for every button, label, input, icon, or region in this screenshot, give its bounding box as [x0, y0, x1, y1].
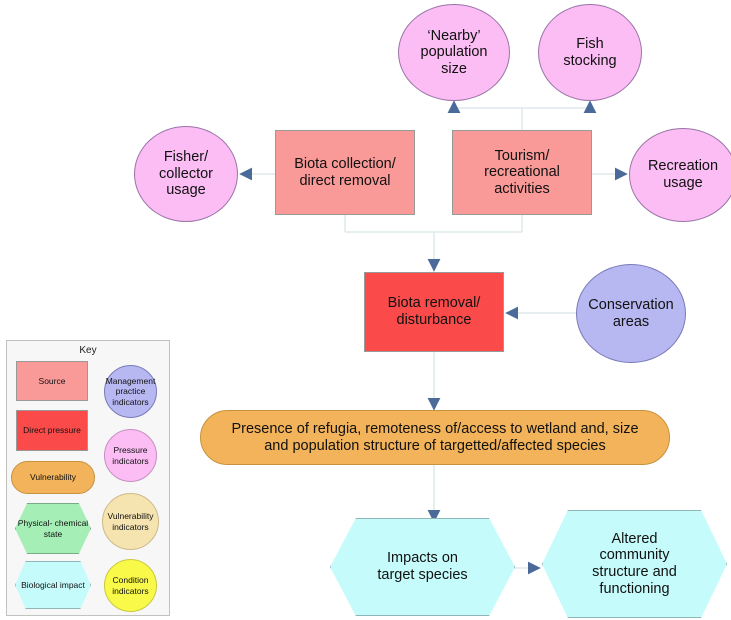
- node-line: usage: [159, 182, 213, 199]
- node-line: Recreation: [648, 158, 718, 175]
- key-item-physical-chemical-state: Physical- chemical state: [15, 503, 91, 554]
- key-item-label: indicators: [112, 522, 148, 532]
- node-line: Presence of refugia, remoteness of/acces…: [231, 421, 638, 438]
- key-item-label: Management: [106, 376, 156, 386]
- key-item-label: Pressure: [113, 445, 147, 455]
- node-line: Biota collection/: [294, 156, 396, 173]
- diagram-canvas: ‘Nearby’ population size Fish stocking F…: [0, 0, 731, 620]
- key-item-label: indicators: [112, 586, 148, 596]
- key-item-source: Source: [16, 361, 88, 401]
- node-conservation-areas[interactable]: Conservation areas: [576, 264, 686, 363]
- node-line: recreational: [484, 164, 560, 181]
- key-item-label: Vulnerability: [108, 511, 154, 521]
- node-line: direct removal: [294, 173, 396, 190]
- key-item-pressure-indicators: Pressure indicators: [104, 429, 157, 482]
- node-line: usage: [648, 175, 718, 192]
- key-item-label: indicators: [112, 456, 148, 466]
- node-line: and population structure of targetted/af…: [231, 438, 638, 455]
- node-line: Tourism/: [484, 148, 560, 165]
- node-line: stocking: [563, 53, 616, 70]
- key-item-management-practice-indicators: Management practice indicators: [104, 365, 157, 418]
- node-line: activities: [484, 181, 560, 198]
- key-item-label: Vulnerability: [30, 472, 76, 482]
- key-item-vulnerability: Vulnerability: [11, 461, 95, 494]
- key-item-condition-indicators: Condition indicators: [104, 559, 157, 612]
- key-item-vulnerability-indicators: Vulnerability indicators: [102, 493, 159, 550]
- key-item-biological-impact: Biological impact: [15, 561, 91, 609]
- node-impacts-on-target-species[interactable]: Impacts on target species: [330, 518, 515, 616]
- node-line: Conservation: [588, 297, 673, 314]
- key-item-direct-pressure: Direct pressure: [16, 410, 88, 451]
- key-item-label: Physical-: [18, 518, 52, 528]
- key-item-label: indicators: [112, 397, 148, 407]
- key-item-label: chemical: [55, 518, 89, 528]
- node-line: Biota removal/: [388, 295, 481, 312]
- node-biota-collection-direct-removal[interactable]: Biota collection/ direct removal: [275, 130, 415, 215]
- node-line: disturbance: [388, 312, 481, 329]
- key-item-label: Source: [39, 376, 66, 386]
- key-item-label: impact: [60, 580, 85, 590]
- node-vulnerability-statement[interactable]: Presence of refugia, remoteness of/acces…: [200, 410, 670, 465]
- key-item-label: Biological: [21, 580, 57, 590]
- node-line: ‘Nearby’: [421, 28, 488, 45]
- key-item-label: Condition: [113, 575, 149, 585]
- node-fisher-collector-usage[interactable]: Fisher/ collector usage: [134, 126, 238, 222]
- key-item-label: practice: [116, 386, 146, 396]
- node-fish-stocking[interactable]: Fish stocking: [538, 4, 642, 101]
- node-line: areas: [588, 314, 673, 331]
- node-tourism-recreational-activities[interactable]: Tourism/ recreational activities: [452, 130, 592, 215]
- key-panel: Key Source Direct pressure Vulnerability…: [6, 340, 170, 616]
- node-recreation-usage[interactable]: Recreation usage: [629, 128, 731, 222]
- node-line: collector: [159, 166, 213, 183]
- node-line: Fisher/: [159, 149, 213, 166]
- node-line: size: [421, 61, 488, 78]
- node-line: functioning: [592, 581, 677, 598]
- node-line: Impacts on: [377, 550, 467, 567]
- key-title: Key: [7, 345, 169, 356]
- node-biota-removal-disturbance[interactable]: Biota removal/ disturbance: [364, 272, 504, 352]
- node-line: population: [421, 44, 488, 61]
- node-line: community: [592, 547, 677, 564]
- node-line: target species: [377, 567, 467, 584]
- node-line: Altered: [592, 531, 677, 548]
- node-line: Fish: [563, 36, 616, 53]
- key-item-label: Direct pressure: [23, 425, 81, 435]
- node-altered-community-structure[interactable]: Altered community structure and function…: [542, 510, 727, 618]
- node-nearby-population-size[interactable]: ‘Nearby’ population size: [398, 4, 510, 101]
- node-line: structure and: [592, 564, 677, 581]
- key-item-label: state: [44, 529, 62, 539]
